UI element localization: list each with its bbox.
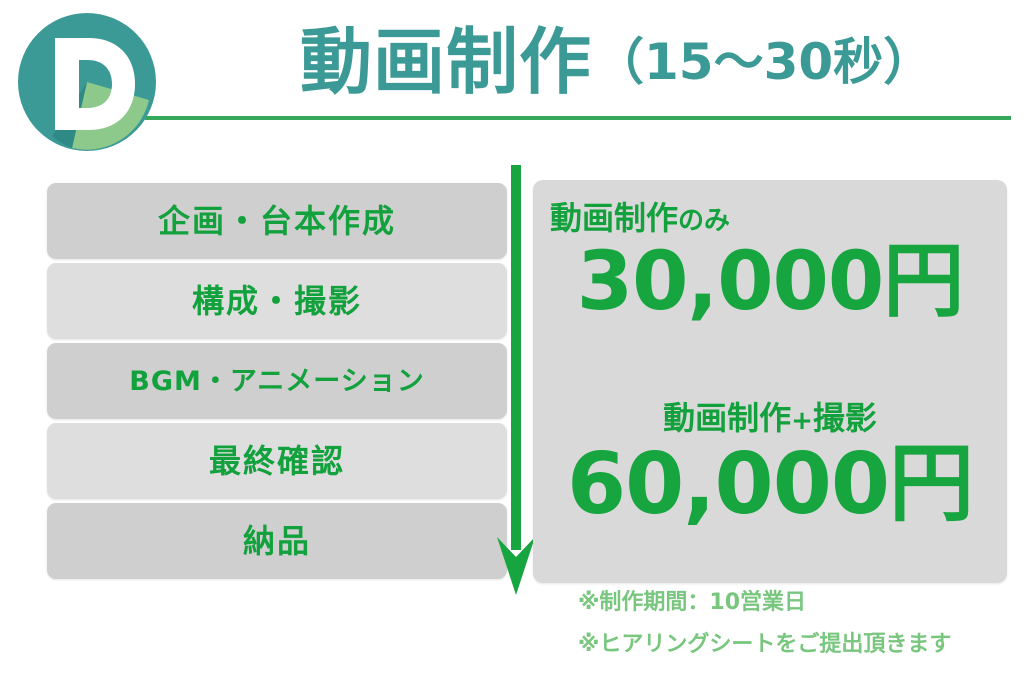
- process-step-label: 納品: [243, 525, 311, 557]
- plan-2-caption-suffix: 撮影: [813, 399, 877, 437]
- process-step-label: 企画・台本作成: [158, 205, 396, 237]
- brand-logo-d: [17, 12, 157, 152]
- process-step-2: 構成・撮影: [47, 263, 507, 339]
- pricing-plan-2: 動画制作+撮影 60,000円: [533, 402, 1007, 529]
- plan-1-caption-main: 動画制作: [550, 199, 678, 237]
- header-divider: [145, 116, 1011, 120]
- plan-1-caption-suffix: のみ: [678, 206, 730, 236]
- pricing-plan-2-caption: 動画制作+撮影: [533, 402, 1007, 434]
- footnote-production-period: ※制作期間：10営業日: [578, 592, 1018, 614]
- title-main-text: 動画制作: [300, 26, 592, 98]
- header: 動画制作 （15〜30秒）: [0, 0, 1024, 160]
- process-step-3: BGM・アニメーション: [47, 343, 507, 419]
- process-step-label: BGM・アニメーション: [129, 368, 425, 395]
- pricing-plan-1-amount: 30,000円: [533, 240, 1007, 325]
- pricing-plan-1: 動画制作のみ 30,000円: [533, 202, 1007, 325]
- plan-2-caption-plus: +: [791, 406, 813, 436]
- logo-d-icon: [17, 12, 157, 152]
- down-arrow-shape: [495, 165, 537, 595]
- pricing-infographic: 動画制作 （15〜30秒） 企画・台本作成 構成・撮影 BGM・アニメーション …: [0, 0, 1024, 683]
- process-step-label: 構成・撮影: [192, 285, 362, 317]
- process-step-list: 企画・台本作成 構成・撮影 BGM・アニメーション 最終確認 納品: [47, 183, 507, 583]
- title-duration-text: （15〜30秒）: [594, 37, 933, 87]
- plan-2-caption-main: 動画制作: [663, 399, 791, 437]
- pricing-plan-1-caption: 動画制作のみ: [533, 202, 1007, 234]
- process-step-5: 納品: [47, 503, 507, 579]
- pricing-plan-2-amount: 60,000円: [533, 440, 1007, 529]
- page-title: 動画制作 （15〜30秒）: [300, 16, 1012, 108]
- footnote-hearing-sheet: ※ヒアリングシートをご提出頂きます: [578, 634, 1018, 656]
- pricing-panel: 動画制作のみ 30,000円 動画制作+撮影 60,000円: [533, 180, 1007, 583]
- process-step-4: 最終確認: [47, 423, 507, 499]
- down-arrow-icon: [495, 165, 537, 595]
- footnote-list: ※制作期間：10営業日 ※ヒアリングシートをご提出頂きます: [578, 592, 1018, 656]
- process-step-label: 最終確認: [209, 445, 345, 477]
- process-step-1: 企画・台本作成: [47, 183, 507, 259]
